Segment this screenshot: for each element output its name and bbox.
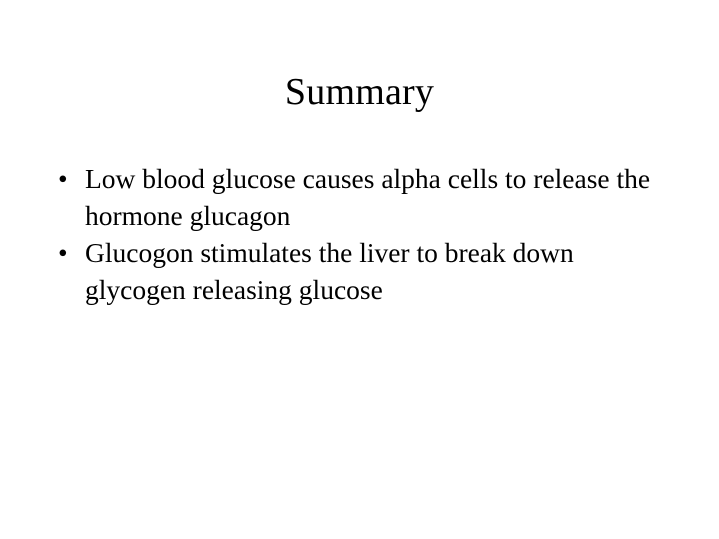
bullet-item-text: Glucogon stimulates the liver to break d… (85, 237, 574, 305)
bullet-point-icon: • (58, 160, 78, 197)
bullet-list: • Low blood glucose causes alpha cells t… (52, 160, 677, 308)
presentation-slide: Summary • Low blood glucose causes alpha… (0, 0, 719, 539)
list-item: • Glucogon stimulates the liver to break… (52, 234, 677, 308)
slide-content-body: • Low blood glucose causes alpha cells t… (52, 160, 677, 308)
bullet-item-text: Low blood glucose causes alpha cells to … (85, 163, 650, 231)
bullet-point-icon: • (58, 234, 78, 271)
page-title: Summary (0, 70, 719, 114)
list-item: • Low blood glucose causes alpha cells t… (52, 160, 677, 234)
